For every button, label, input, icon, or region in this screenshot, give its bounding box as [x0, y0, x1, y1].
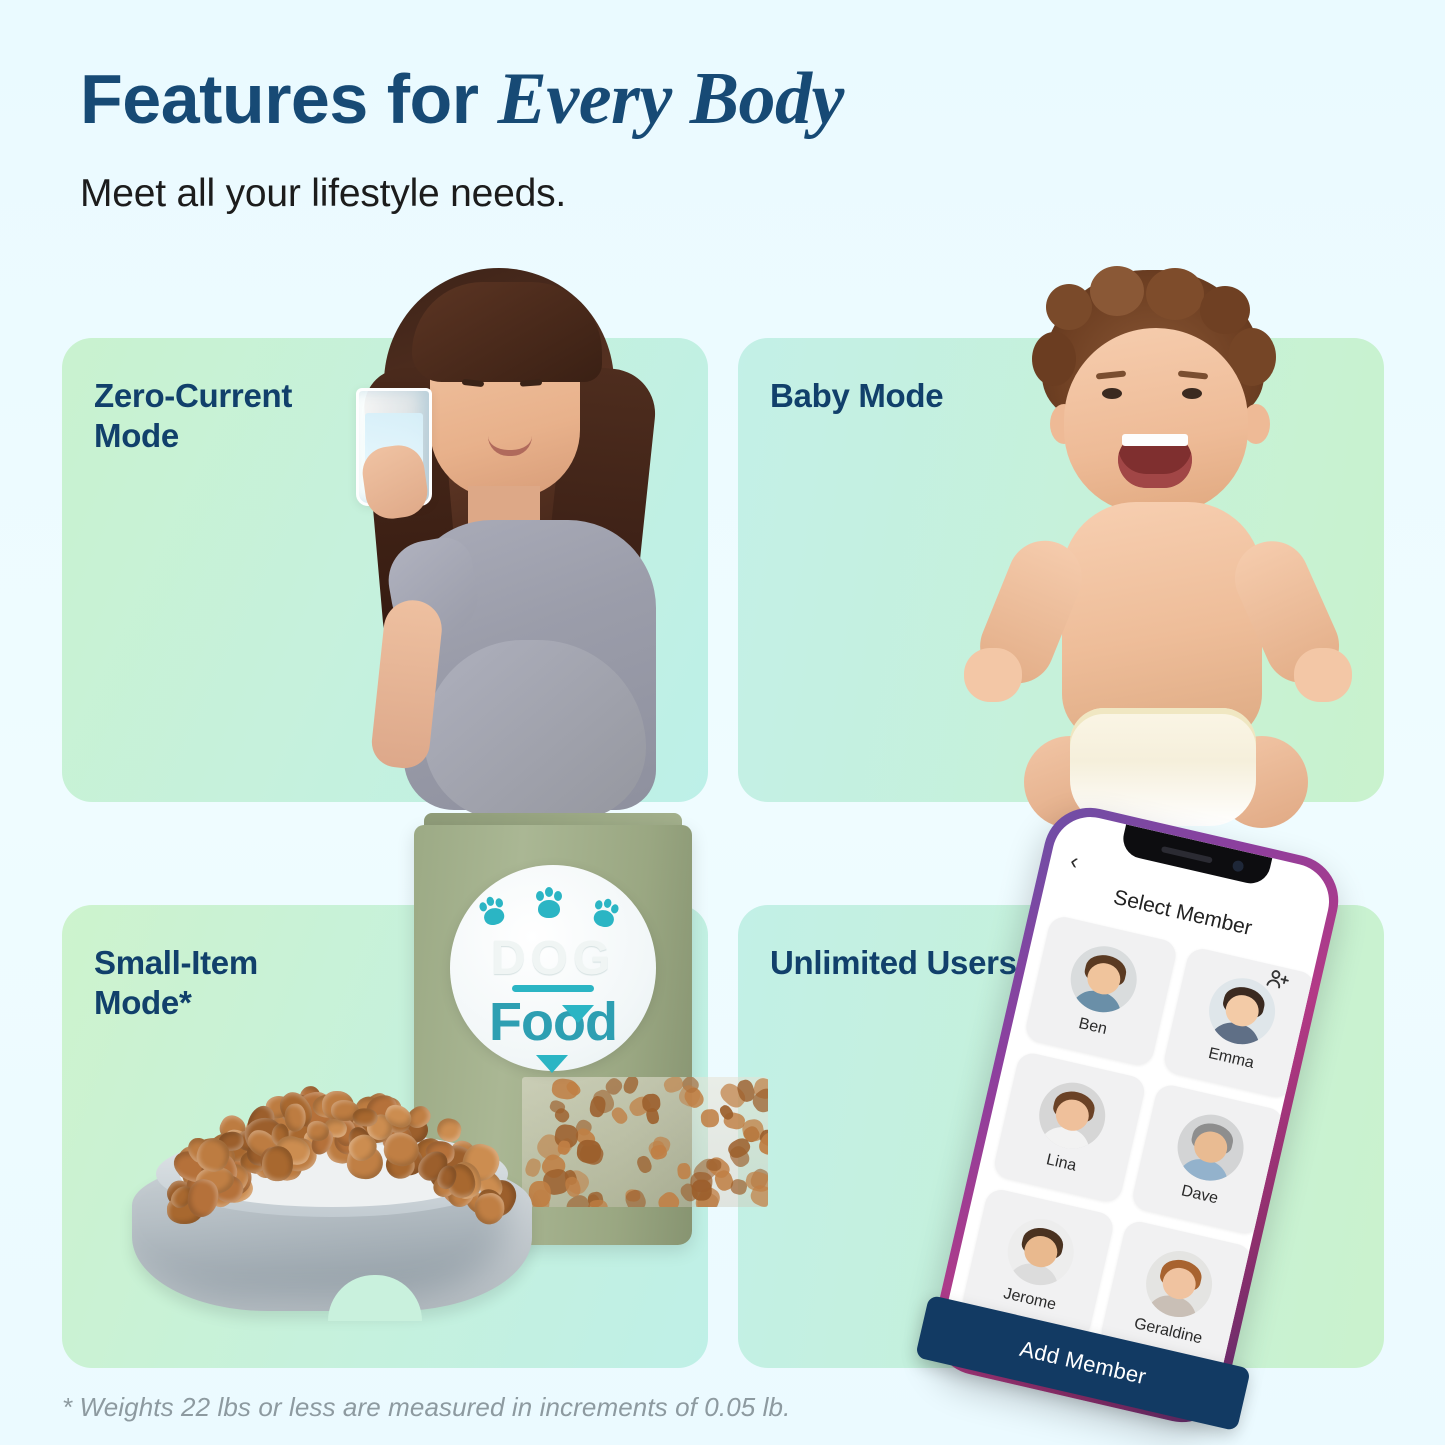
- phone-notch: [1119, 824, 1272, 887]
- card-label-zero-current: Zero-Current Mode: [94, 376, 292, 457]
- feature-card-zero-current: Zero-Current Mode: [62, 338, 708, 802]
- card-label-small-item: Small-Item Mode*: [94, 943, 258, 1024]
- feature-infographic: Features for Every Body Meet all your li…: [0, 0, 1445, 1445]
- page-subtitle: Meet all your lifestyle needs.: [80, 172, 1280, 216]
- card-label-baby-mode: Baby Mode: [770, 376, 943, 416]
- back-chevron-icon[interactable]: ‹: [1068, 847, 1082, 875]
- page-title-lead: Features for: [80, 60, 498, 138]
- card-label-unlimited-users: Unlimited Users: [770, 943, 1017, 983]
- feature-card-unlimited-users: ‹ Select Member BenEmmaLinaDaveJeromeGer…: [738, 905, 1384, 1368]
- feature-card-small-item: DOG Food Small-Item Mode*: [62, 905, 708, 1368]
- page-title: Features for Every Body: [80, 62, 1280, 136]
- page-title-emphasis: Every Body: [498, 58, 844, 140]
- feature-card-grid: Zero-Current Mode: [62, 338, 1382, 1368]
- feature-card-baby-mode: Baby Mode: [738, 338, 1384, 802]
- front-camera: [1232, 859, 1245, 872]
- footnote: * Weights 22 lbs or less are measured in…: [62, 1392, 790, 1423]
- earpiece-speaker: [1161, 846, 1213, 864]
- header: Features for Every Body Meet all your li…: [80, 62, 1280, 216]
